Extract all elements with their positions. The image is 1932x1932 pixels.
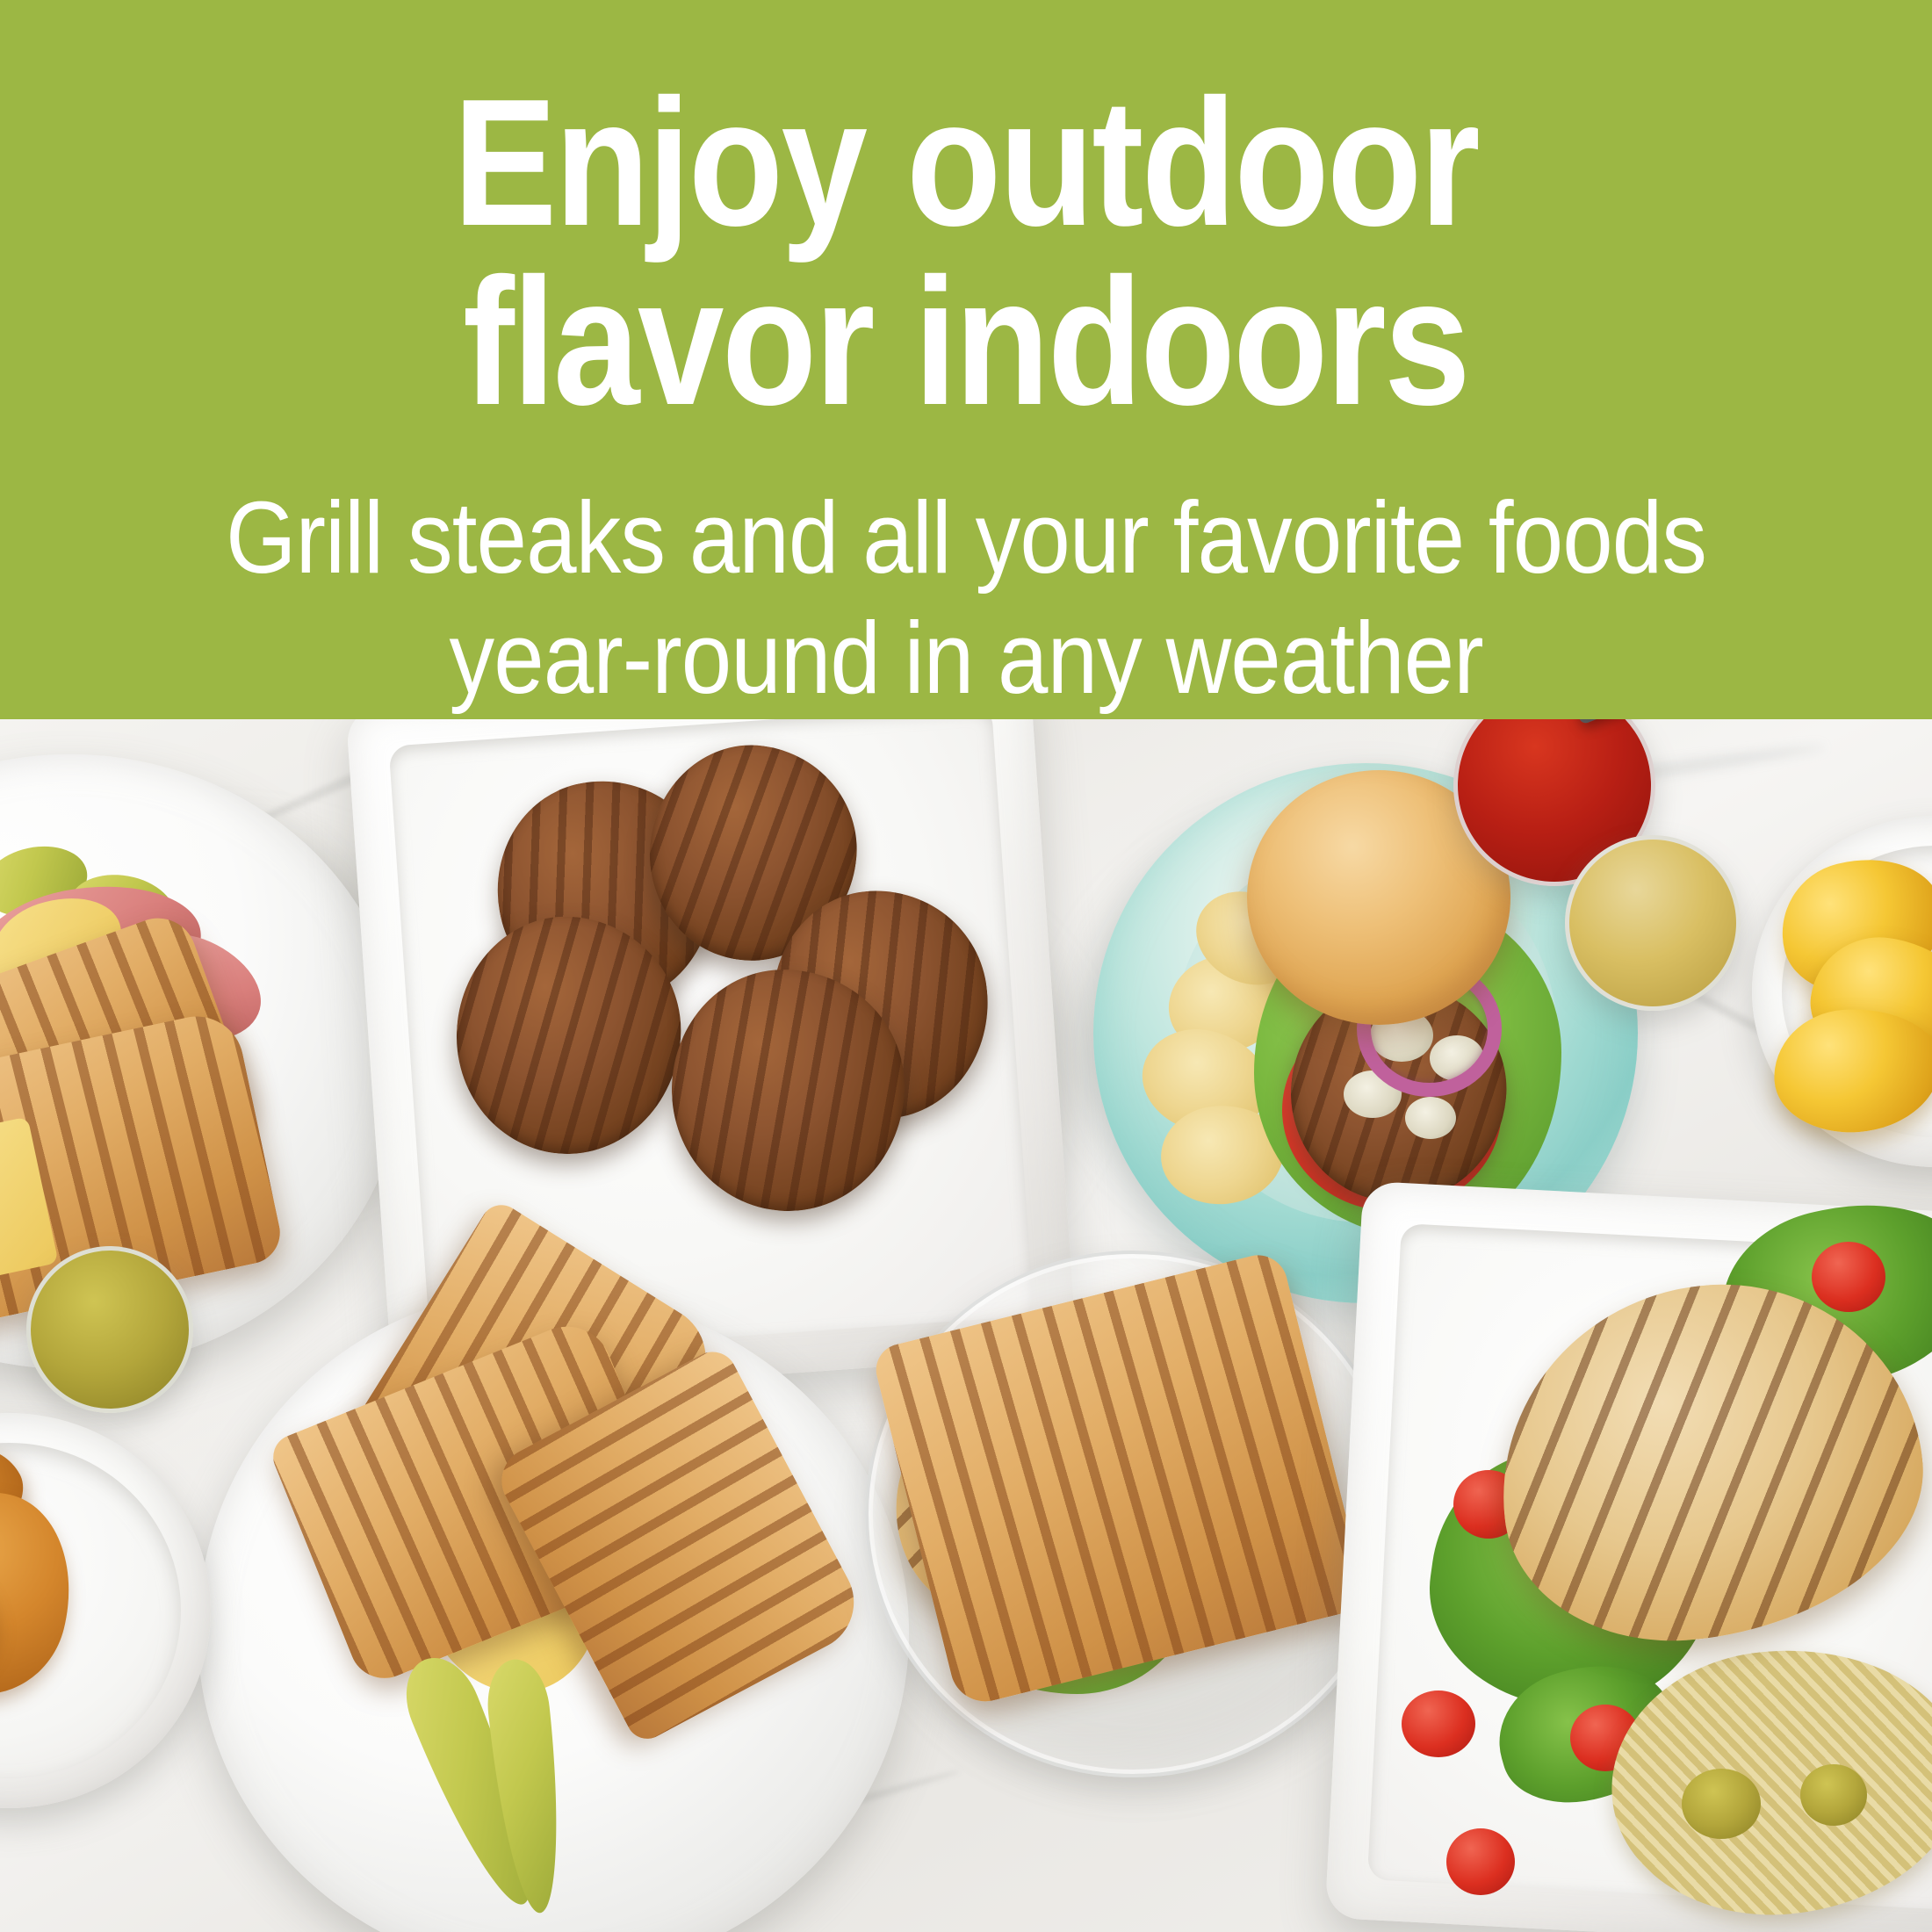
promo-banner: Enjoy outdoor flavor indoors Grill steak… [0, 0, 1932, 1932]
pesto-dollop [1800, 1764, 1867, 1826]
page-title: Enjoy outdoor flavor indoors [453, 74, 1478, 432]
cherry-tomato [1446, 1828, 1515, 1895]
page-subtitle: Grill steaks and all your favorite foods… [226, 478, 1706, 718]
mustard-bowl [1565, 835, 1741, 1011]
green-header-band: Enjoy outdoor flavor indoors Grill steak… [0, 0, 1932, 719]
pesto-dollop [1682, 1769, 1761, 1839]
food-photo [0, 719, 1932, 1932]
cherry-tomato [1402, 1690, 1475, 1757]
blue-cheese-crumble [1405, 1097, 1456, 1139]
mustard-dip-bowl [26, 1246, 193, 1413]
cherry-tomato [1812, 1242, 1885, 1312]
